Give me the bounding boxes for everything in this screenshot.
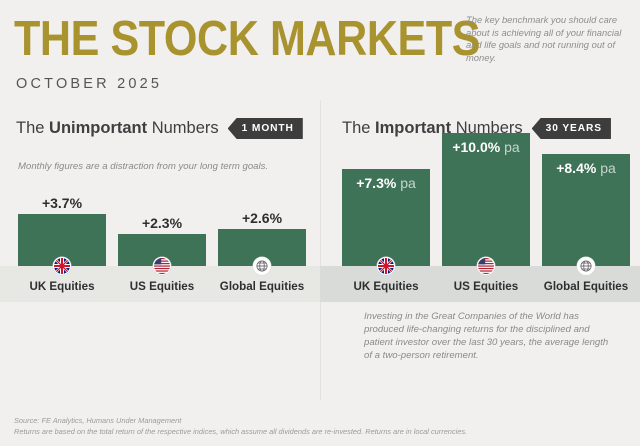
bar-global-30y: +8.4% pa <box>542 154 630 266</box>
bar-us: +2.3% <box>118 234 206 266</box>
category-label-global-30y: Global Equities <box>530 280 640 293</box>
bar-group-global-30y: +8.4% pa Global Equities <box>542 154 630 266</box>
bar-value-global-30y-number: +8.4% <box>556 160 596 176</box>
bar-value-global-30y: +8.4% pa <box>542 160 630 176</box>
bar-value-us-30y: +10.0% pa <box>442 139 530 155</box>
bar-value-global: +2.6% <box>218 210 306 229</box>
bar-group-uk: +3.7% UK Equities <box>18 214 106 266</box>
left-heading-post: Numbers <box>147 119 219 137</box>
bar-value-us-30y-number: +10.0% <box>452 139 500 155</box>
header-note: The key benchmark you should care about … <box>466 14 634 64</box>
bar-uk-30y: +7.3% pa <box>342 169 430 266</box>
category-label-global: Global Equities <box>206 280 318 293</box>
bar-value-uk-30y-number: +7.3% <box>356 175 396 191</box>
left-heading-text: The Unimportant Numbers <box>16 119 219 138</box>
footer-source: Source: FE Analytics, Humans Under Manag… <box>14 416 467 427</box>
footer: Source: FE Analytics, Humans Under Manag… <box>14 416 467 437</box>
category-label-us-30y: US Equities <box>430 280 542 293</box>
globe-icon <box>253 257 271 275</box>
bar-us-30y: +10.0% pa <box>442 133 530 266</box>
page-subtitle: OCTOBER 2025 <box>16 76 162 92</box>
bar-value-uk: +3.7% <box>18 195 106 214</box>
us-flag-icon <box>477 257 495 275</box>
bar-global: +2.6% <box>218 229 306 266</box>
category-label-us: US Equities <box>106 280 218 293</box>
uk-flag-icon <box>377 257 395 275</box>
bar-value-uk-30y: +7.3% pa <box>342 175 430 191</box>
bar-group-uk-30y: +7.3% pa UK Equities <box>342 169 430 266</box>
bar-uk: +3.7% <box>18 214 106 266</box>
bar-group-global: +2.6% Global Equities <box>218 229 306 266</box>
chart-important-numbers: +7.3% pa UK Equities +10.0% pa <box>320 150 640 302</box>
uk-flag-icon <box>53 257 71 275</box>
bar-group-us: +2.3% US Equities <box>118 234 206 266</box>
left-period-badge: 1 MONTH <box>228 118 303 139</box>
category-label-uk-30y: UK Equities <box>330 280 442 293</box>
bar-value-uk-30y-suffix: pa <box>400 175 416 191</box>
bar-value-global-30y-suffix: pa <box>600 160 616 176</box>
left-heading-pre: The <box>16 119 49 137</box>
left-panel-heading: The Unimportant Numbers 1 MONTH <box>16 118 303 139</box>
globe-icon <box>577 257 595 275</box>
right-period-badge: 30 YEARS <box>532 118 611 139</box>
page-title: THE STOCK MARKETS <box>14 14 480 64</box>
us-flag-icon <box>153 257 171 275</box>
bar-group-us-30y: +10.0% pa <box>442 133 530 266</box>
footer-disclaimer: Returns are based on the total return of… <box>14 427 467 438</box>
header: THE STOCK MARKETS OCTOBER 2025 The key b… <box>0 0 640 100</box>
right-panel-blurb: Investing in the Great Companies of the … <box>364 310 614 362</box>
category-label-uk: UK Equities <box>6 280 118 293</box>
right-heading-pre: The <box>342 119 375 137</box>
chart-unimportant-numbers: +3.7% UK Equities +2.3% <box>0 150 320 302</box>
right-heading-bold: Important <box>375 119 451 137</box>
bar-value-us: +2.3% <box>118 215 206 234</box>
bar-value-us-30y-suffix: pa <box>504 139 520 155</box>
left-heading-bold: Unimportant <box>49 119 147 137</box>
